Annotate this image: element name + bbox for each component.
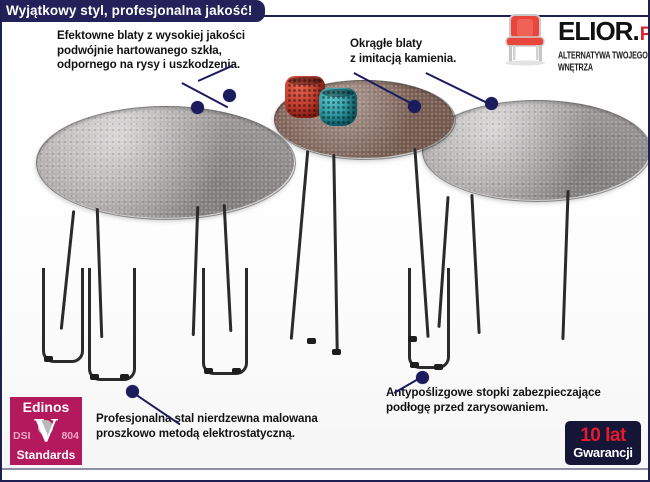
table-leg <box>290 150 310 340</box>
callout-dot-glass-tops-2 <box>223 89 236 102</box>
table-hairpin-leg <box>408 268 450 369</box>
certification-code-left: DSI <box>13 430 31 442</box>
brand-tagline: ALTERNATYWA TWOJEGO WNĘTRZA <box>558 49 650 73</box>
red-chair-icon <box>498 10 556 66</box>
brand-dot: . <box>632 18 639 44</box>
brand-name: ELIOR <box>558 18 632 44</box>
vase-opening <box>288 77 322 85</box>
vase-opening <box>322 89 354 97</box>
callout-dot-glass-tops <box>191 101 204 114</box>
certification-code-right: 804 <box>61 430 79 442</box>
table-foot <box>44 356 53 362</box>
warranty-badge: 10 lat Gwarancji <box>565 421 641 465</box>
table-top-left-rim <box>36 106 296 220</box>
warranty-years: 10 lat <box>580 426 626 446</box>
table-top-right-rim <box>422 100 650 202</box>
table-foot <box>307 338 316 344</box>
table-foot <box>434 364 443 370</box>
table-hairpin-leg <box>202 268 248 375</box>
footer-divider <box>2 468 650 470</box>
table-foot <box>120 374 129 380</box>
table-leg <box>192 206 200 336</box>
certification-standards-label: Standards <box>17 449 76 462</box>
callout-glass-tops-text: Efektowne blaty z wysokiej jakości podwó… <box>57 29 317 73</box>
decorative-vase-teal <box>319 88 357 126</box>
brand-tld: PL <box>640 22 650 48</box>
callout-steel-text: Profesjonalna stal nierdzewna malowana p… <box>96 412 356 441</box>
brand-wordmark: ELIOR . PL ALTERNATYWA TWOJEGO WNĘTRZA <box>558 18 650 67</box>
table-foot <box>90 374 99 380</box>
callout-dot-feet <box>416 371 429 384</box>
certification-badge: Edinos V DSI 804 Standards <box>10 397 82 465</box>
warranty-label: Gwarancji <box>573 446 632 460</box>
callout-feet-text: Antypoślizgowe stopki zabezpieczające po… <box>386 386 636 415</box>
header-banner: Wyjątkowy styl, profesjonalna jakość! <box>0 0 265 22</box>
table-leg <box>332 154 338 350</box>
infographic-frame: Wyjątkowy styl, profesjonalna jakość! <box>0 0 650 482</box>
brand-logo[interactable]: ELIOR . PL ALTERNATYWA TWOJEGO WNĘTRZA <box>498 6 648 68</box>
callout-dot-stone-tops-2 <box>485 97 498 110</box>
table-leg <box>470 194 480 334</box>
table-leg <box>561 190 569 340</box>
table-foot <box>332 349 341 355</box>
table-foot <box>232 368 241 374</box>
table-foot <box>204 368 213 374</box>
table-foot <box>408 336 417 342</box>
callout-dot-steel <box>126 385 139 398</box>
table-foot <box>410 362 419 368</box>
certification-mark: V DSI 804 <box>10 416 82 448</box>
header-title: Wyjątkowy styl, profesjonalna jakość! <box>6 0 253 22</box>
table-hairpin-leg <box>42 268 84 363</box>
table-hairpin-leg <box>88 268 136 381</box>
callout-dot-stone-tops <box>408 100 421 113</box>
